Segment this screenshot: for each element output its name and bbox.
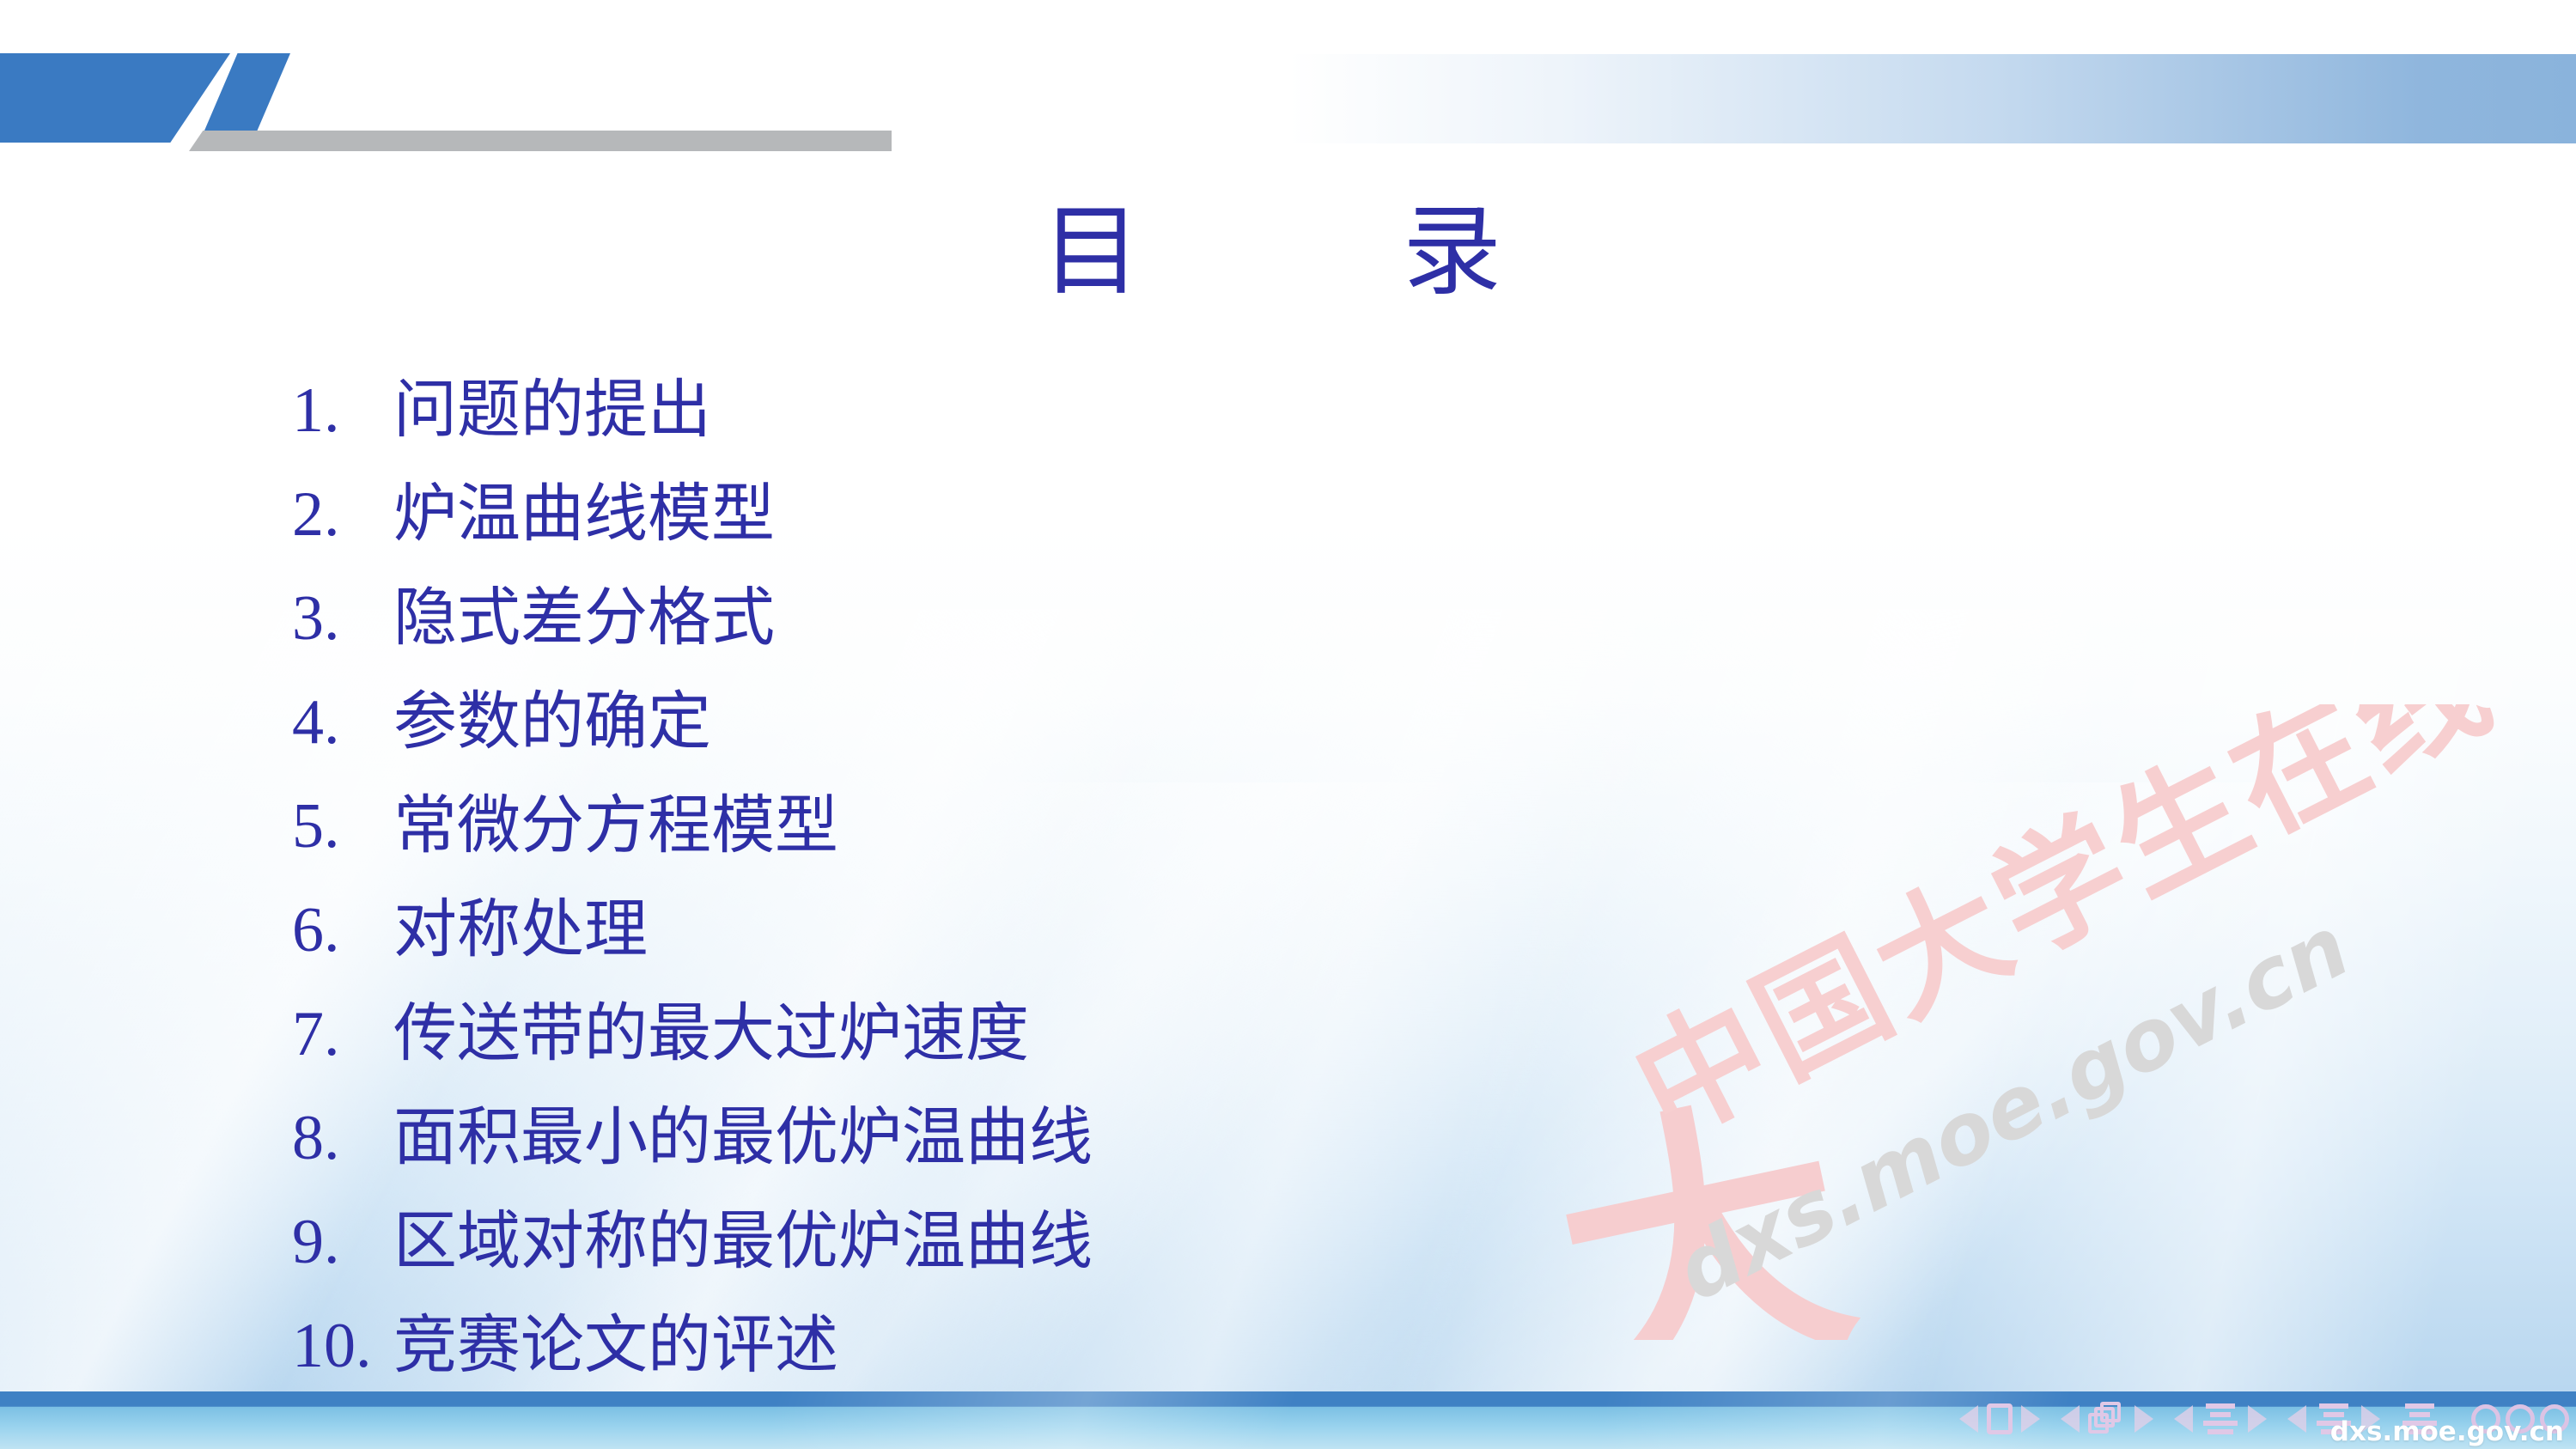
- toc-item-7[interactable]: 7. 传送带的最大过炉速度: [292, 983, 2096, 1087]
- header-gradient-band: [1288, 54, 2576, 143]
- toc-item-label: 对称处理: [393, 879, 648, 983]
- next-arrow-icon[interactable]: [2248, 1405, 2267, 1433]
- toc-item-number: 7.: [292, 983, 393, 1087]
- prev-arrow-icon[interactable]: [1959, 1405, 1978, 1433]
- toc-item-label: 传送带的最大过炉速度: [393, 983, 1029, 1087]
- next-arrow-icon[interactable]: [2021, 1405, 2040, 1433]
- prev-arrow-icon[interactable]: [2061, 1405, 2080, 1433]
- toc-item-number: 9.: [292, 1190, 393, 1294]
- nav-group-slide[interactable]: [1959, 1403, 2040, 1434]
- toc-item-label: 竞赛论文的评述: [393, 1294, 838, 1398]
- toc-item-label: 区域对称的最优炉温曲线: [393, 1190, 1093, 1294]
- nav-group-outline[interactable]: [2174, 1403, 2267, 1434]
- toc-item-label: 面积最小的最优炉温曲线: [393, 1087, 1093, 1190]
- slide-icon[interactable]: [1987, 1403, 2013, 1434]
- header-gray-rule: [189, 131, 892, 151]
- table-of-contents: 1. 问题的提出 2. 炉温曲线模型 3. 隐式差分格式 4. 参数的确定 5.…: [292, 359, 2096, 1398]
- toc-item-label: 常微分方程模型: [393, 775, 838, 879]
- toc-item-number: 4.: [292, 671, 393, 775]
- toc-item-number: 3.: [292, 567, 393, 671]
- prev-arrow-icon[interactable]: [2287, 1405, 2306, 1433]
- outline-lines-icon[interactable]: [2201, 1403, 2239, 1434]
- toc-item-number: 1.: [292, 359, 393, 463]
- toc-item-label: 炉温曲线模型: [393, 463, 775, 567]
- toc-item-5[interactable]: 5. 常微分方程模型: [292, 775, 2096, 879]
- footer-site-url: dxs.moe.gov.cn: [2330, 1416, 2564, 1447]
- prev-arrow-icon[interactable]: [2174, 1405, 2193, 1433]
- nav-group-slides-stack[interactable]: [2061, 1402, 2153, 1436]
- toc-item-label: 隐式差分格式: [393, 567, 775, 671]
- next-arrow-icon[interactable]: [2134, 1405, 2153, 1433]
- toc-item-number: 5.: [292, 775, 393, 879]
- toc-item-number: 10.: [292, 1294, 393, 1398]
- presentation-slide: 目 录 1. 问题的提出 2. 炉温曲线模型 3. 隐式差分格式 4. 参数的确…: [0, 0, 2576, 1449]
- toc-item-4[interactable]: 4. 参数的确定: [292, 671, 2096, 775]
- toc-item-2[interactable]: 2. 炉温曲线模型: [292, 463, 2096, 567]
- toc-item-label: 问题的提出: [393, 359, 711, 463]
- toc-item-8[interactable]: 8. 面积最小的最优炉温曲线: [292, 1087, 2096, 1190]
- toc-item-6[interactable]: 6. 对称处理: [292, 879, 2096, 983]
- toc-item-number: 6.: [292, 879, 393, 983]
- toc-item-number: 2.: [292, 463, 393, 567]
- toc-item-number: 8.: [292, 1087, 393, 1190]
- toc-item-9[interactable]: 9. 区域对称的最优炉温曲线: [292, 1190, 2096, 1294]
- toc-item-3[interactable]: 3. 隐式差分格式: [292, 567, 2096, 671]
- toc-item-10[interactable]: 10. 竞赛论文的评述: [292, 1294, 2096, 1398]
- toc-item-label: 参数的确定: [393, 671, 711, 775]
- toc-item-1[interactable]: 1. 问题的提出: [292, 359, 2096, 463]
- stacked-slides-icon[interactable]: [2088, 1402, 2126, 1436]
- page-title: 目 录: [0, 196, 2576, 309]
